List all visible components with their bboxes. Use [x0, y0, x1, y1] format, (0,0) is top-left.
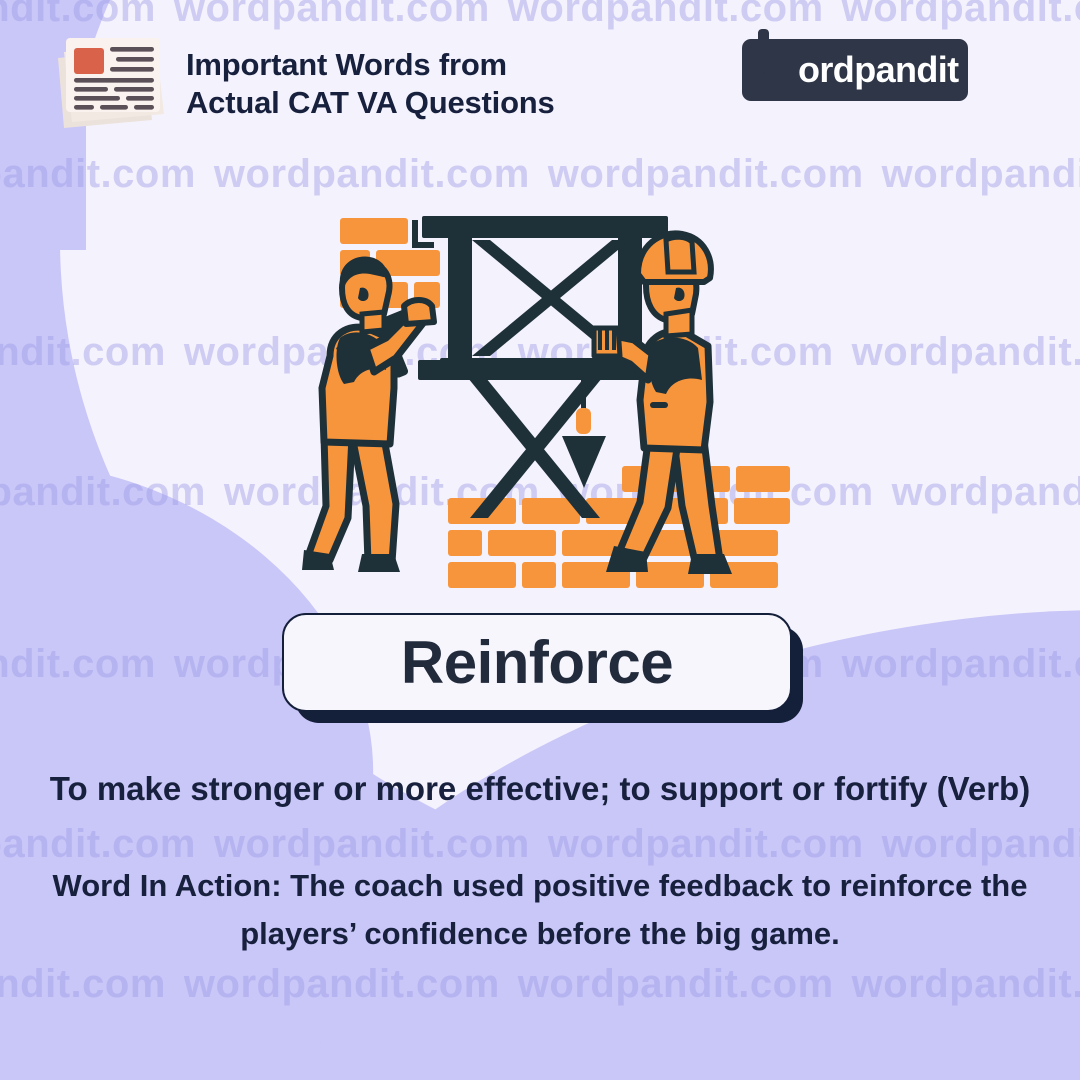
word-definition: To make stronger or more effective; to s…: [40, 768, 1040, 809]
newspaper-icon: [48, 28, 172, 132]
definition-text: To make stronger or more effective; to s…: [50, 770, 928, 807]
logo-text: ordpandit: [798, 49, 959, 91]
wordpandit-logo[interactable]: ordpandit: [742, 39, 968, 101]
part-of-speech: (Verb): [937, 770, 1031, 807]
word-in-action: Word In Action: The coach used positive …: [50, 862, 1030, 958]
page-title: Important Words from Actual CAT VA Quest…: [186, 46, 555, 122]
construction-workers-illustration: [300, 188, 790, 608]
page-title-line-2: Actual CAT VA Questions: [186, 84, 555, 122]
bookmark-w-icon: [752, 29, 798, 87]
page-title-line-1: Important Words from: [186, 47, 507, 82]
header: Important Words from Actual CAT VA Quest…: [0, 0, 1080, 140]
vocabulary-word: Reinforce: [401, 628, 673, 697]
word-card: Reinforce: [282, 613, 804, 725]
vocabulary-poster: wordpandit.comwordpandit.comwordpandit.c…: [0, 0, 1080, 1080]
word-card-face: Reinforce: [282, 613, 792, 712]
hanging-trowel: [562, 380, 606, 488]
left-worker-with-hammer: [302, 256, 434, 572]
